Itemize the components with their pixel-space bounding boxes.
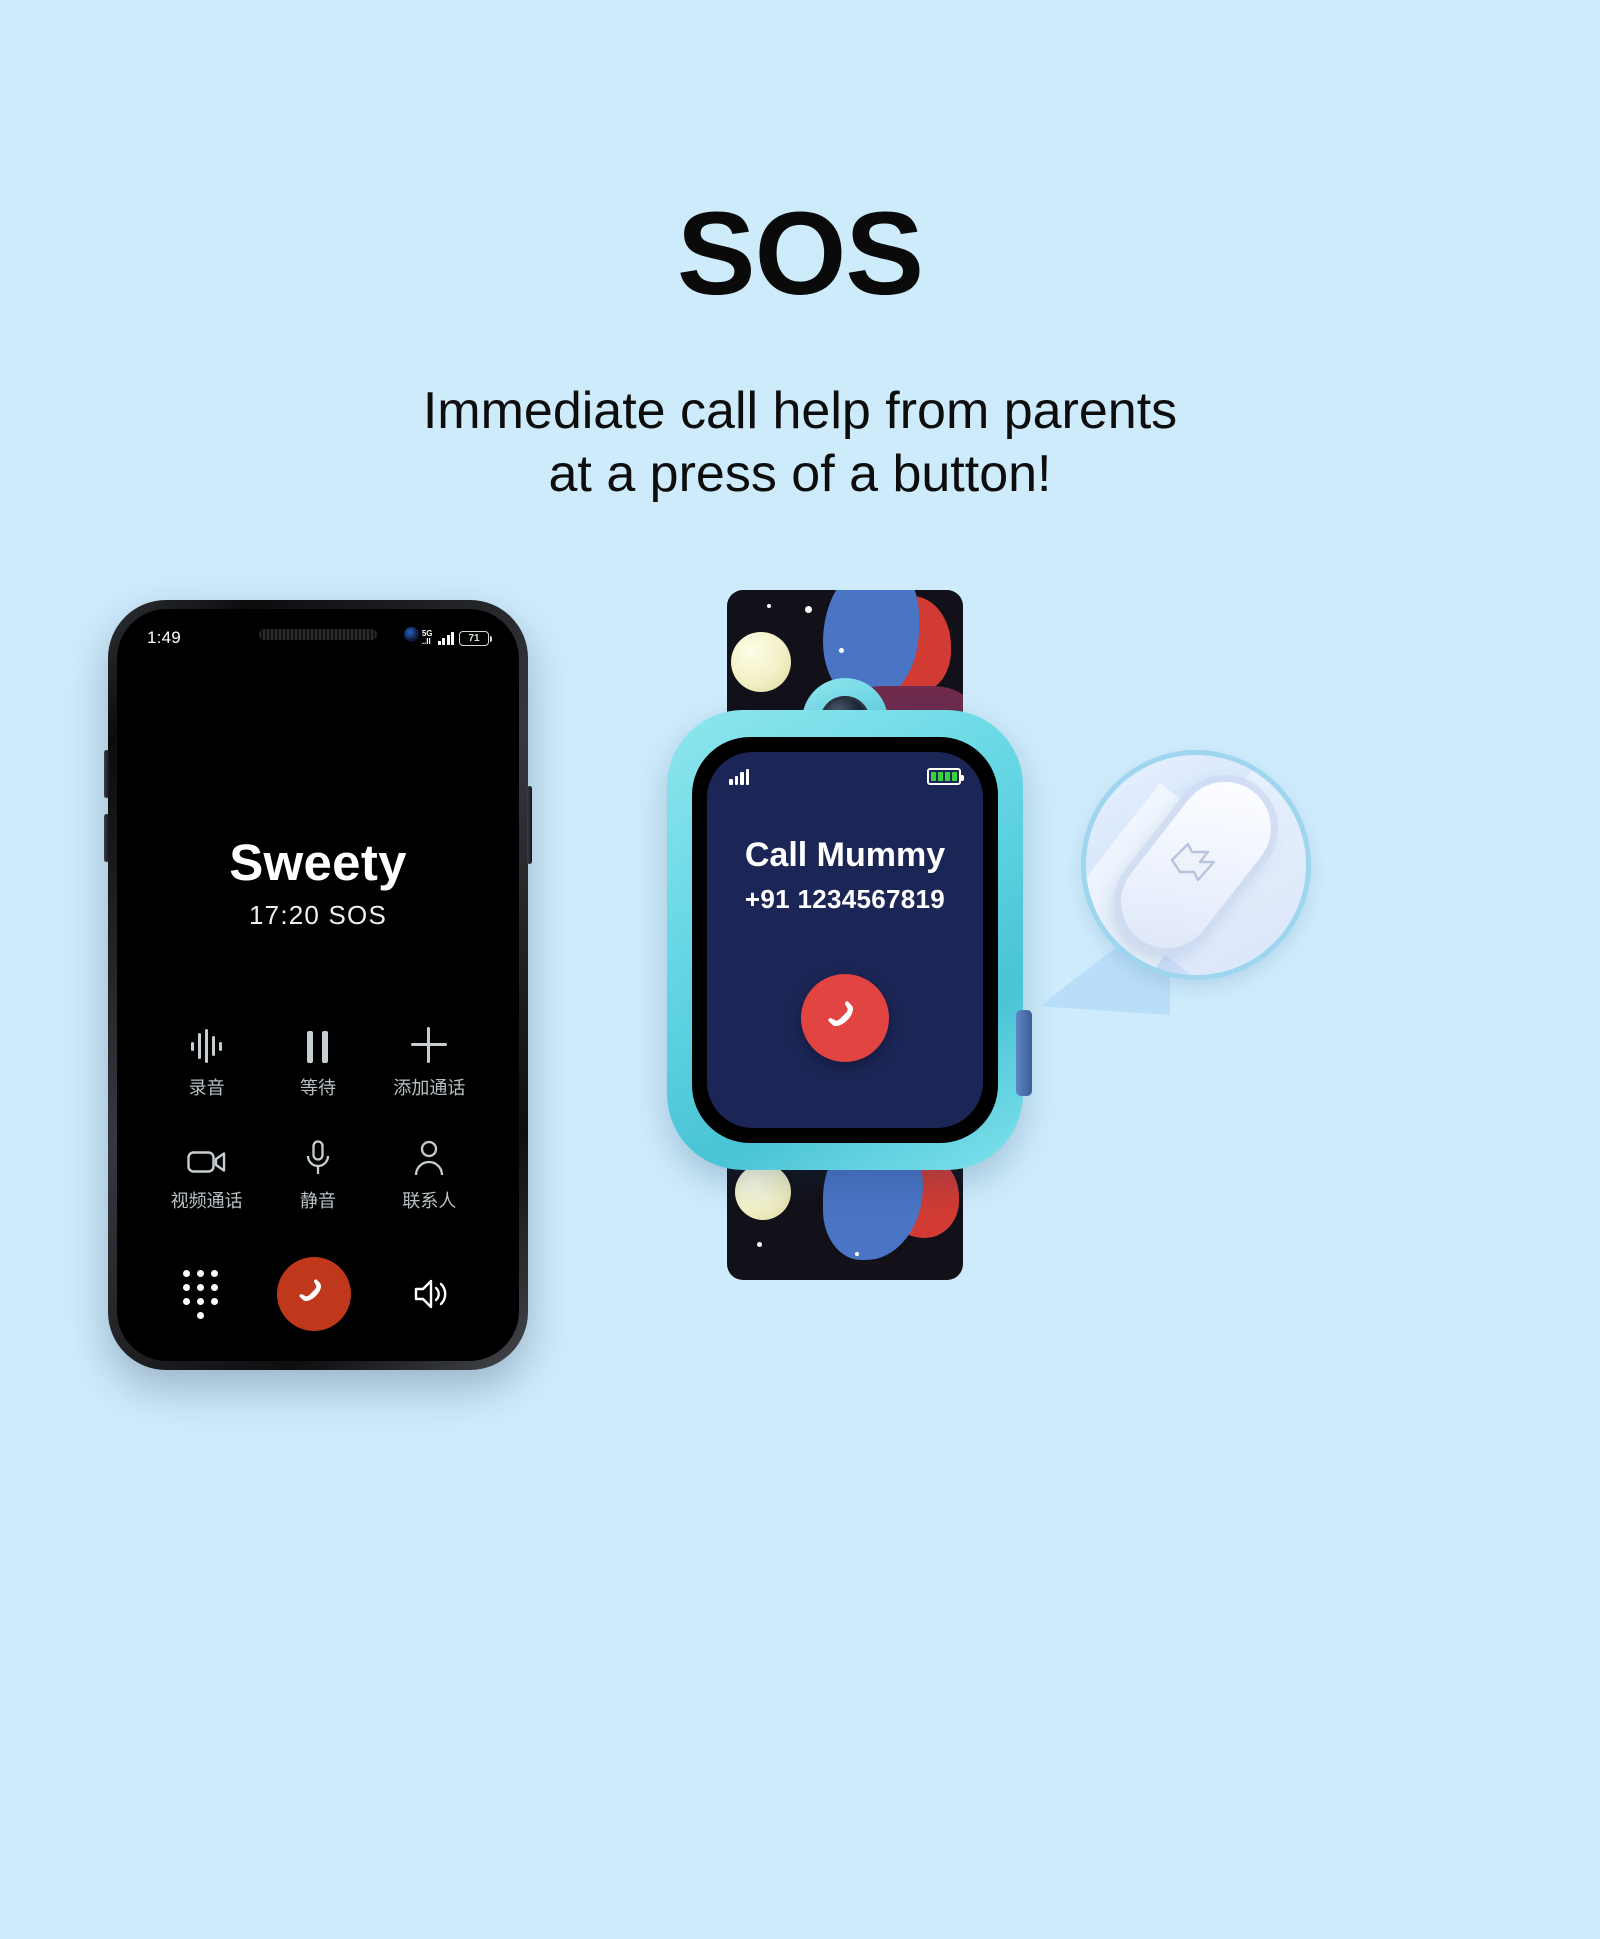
control-hold-label: 等待 <box>300 1074 336 1100</box>
video-camera-icon <box>187 1140 227 1176</box>
control-add-call[interactable]: 添加通话 <box>374 1027 485 1100</box>
status-time: 1:49 <box>147 628 181 648</box>
phone-status-bar: 1:49 5G ..II 71 <box>117 621 519 655</box>
callout-bubble <box>1086 755 1306 975</box>
control-record[interactable]: 录音 <box>151 1027 262 1100</box>
sos-button-callout <box>1040 755 1310 1035</box>
dialpad-icon[interactable] <box>183 1270 218 1319</box>
smartphone-device: 1:49 5G ..II 71 Sweety 17:20 SOS <box>108 600 528 1370</box>
sos-lightning-glyph <box>1164 838 1228 892</box>
kids-smartwatch-device: Call Mummy +91 1234567819 <box>630 590 1060 1280</box>
watch-case: Call Mummy +91 1234567819 <box>667 710 1023 1170</box>
end-call-icon <box>811 984 879 1052</box>
caller-name: Sweety <box>117 833 519 892</box>
control-hold[interactable]: 等待 <box>262 1027 373 1100</box>
battery-icon: 71 <box>459 631 489 646</box>
control-record-label: 录音 <box>189 1074 225 1100</box>
control-mute-label: 静音 <box>300 1187 336 1213</box>
signal-bars-icon <box>729 769 749 785</box>
product-marketing-page: SOS Immediate call help from parents at … <box>0 0 1600 1939</box>
control-mute[interactable]: 静音 <box>262 1140 373 1213</box>
page-subtitle: Immediate call help from parents at a pr… <box>0 380 1600 507</box>
control-video-call[interactable]: 视频通话 <box>151 1140 262 1213</box>
pause-hold-icon <box>307 1027 328 1063</box>
watch-side-button[interactable] <box>1016 1010 1032 1096</box>
battery-full-icon <box>927 768 961 785</box>
watch-status-bar <box>707 768 983 785</box>
volume-down-button[interactable] <box>104 814 109 862</box>
subtitle-line-1: Immediate call help from parents <box>0 380 1600 443</box>
call-duration-and-type: 17:20 SOS <box>117 900 519 931</box>
status-indicators: 5G ..II 71 <box>422 630 489 646</box>
control-add-call-label: 添加通话 <box>393 1074 465 1100</box>
control-contacts[interactable]: 联系人 <box>374 1140 485 1213</box>
call-bottom-actions <box>117 1257 519 1331</box>
microphone-mute-icon <box>305 1140 331 1176</box>
moon-graphic <box>731 632 791 692</box>
network-type-icon: 5G ..II <box>422 630 433 646</box>
watch-end-call-button[interactable] <box>801 974 889 1062</box>
battery-percent: 71 <box>468 633 479 644</box>
person-contacts-icon <box>414 1140 444 1176</box>
end-call-button[interactable] <box>277 1257 351 1331</box>
watch-call-title: Call Mummy <box>707 836 983 875</box>
moon-graphic-2 <box>735 1164 791 1220</box>
signal-bars-icon <box>438 632 455 645</box>
caller-info: Sweety 17:20 SOS <box>117 833 519 931</box>
speaker-button[interactable] <box>411 1273 453 1315</box>
phone-screen: 1:49 5G ..II 71 Sweety 17:20 SOS <box>117 609 519 1361</box>
power-button[interactable] <box>527 786 532 864</box>
plus-add-call-icon <box>411 1027 447 1063</box>
watch-call-number: +91 1234567819 <box>707 884 983 915</box>
control-video-call-label: 视频通话 <box>171 1187 243 1213</box>
watch-screen: Call Mummy +91 1234567819 <box>707 752 983 1128</box>
page-title: SOS <box>0 195 1600 313</box>
control-contacts-label: 联系人 <box>402 1187 456 1213</box>
speaker-icon <box>412 1276 452 1312</box>
network-label-bottom: ..II <box>422 638 433 646</box>
end-call-icon <box>285 1264 344 1323</box>
watch-bezel: Call Mummy +91 1234567819 <box>692 737 998 1143</box>
call-controls-grid: 录音 等待 添加通话 <box>117 1027 519 1213</box>
volume-up-button[interactable] <box>104 750 109 798</box>
record-waveform-icon <box>191 1027 222 1063</box>
subtitle-line-2: at a press of a button! <box>0 443 1600 506</box>
